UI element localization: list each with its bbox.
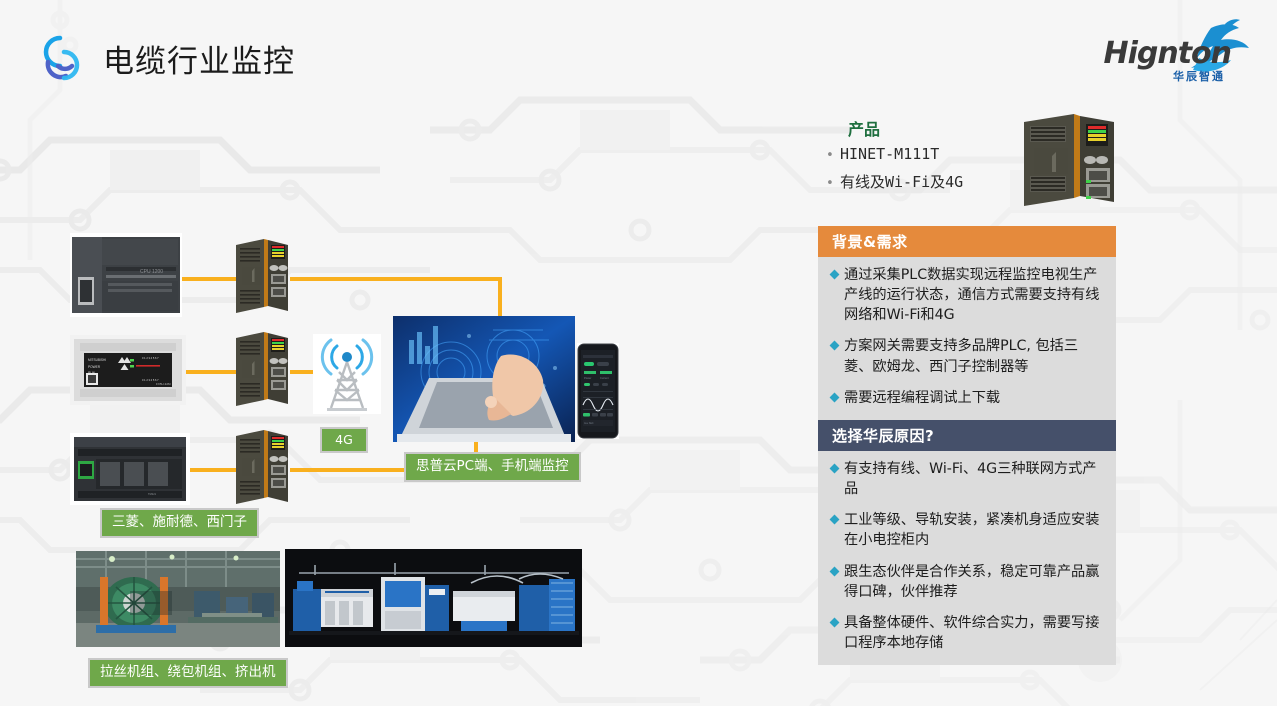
bullet-item: 跟生态伙伴是合作关系，稳定可靠产品赢得口碑，伙伴推荐 xyxy=(828,562,1104,602)
panel-body: 有支持有线、Wi-Fi、4G三种联网方式产品 工业等级、导轨安装，紧凑机身适应安… xyxy=(818,451,1116,665)
bullet-dot-icon: • xyxy=(826,148,840,163)
panel-title: 选择华辰原因? xyxy=(818,420,1116,451)
bullet-item: 有支持有线、Wi-Fi、4G三种联网方式产品 xyxy=(828,459,1104,499)
extrusion-production-line-photo xyxy=(285,549,582,647)
svg-text:0 1 2 3 4 5 6 7: 0 1 2 3 4 5 6 7 xyxy=(142,356,159,360)
bullet-dot-icon: • xyxy=(826,176,840,191)
bullet-text: 跟生态伙伴是合作关系，稳定可靠产品赢得口碑，伙伴推荐 xyxy=(844,562,1104,602)
siemens-plc-icon: CPU 1200 xyxy=(70,233,182,317)
brand-sub-name: 华辰智通 xyxy=(1173,68,1225,84)
bullet-text: 工业等级、导轨安装，紧凑机身适应安装在小电控柜内 xyxy=(844,510,1104,550)
panel-why-hignton: 选择华辰原因? 有支持有线、Wi-Fi、4G三种联网方式产品 工业等级、导轨安装… xyxy=(818,420,1116,665)
cable-loop-logo-icon xyxy=(36,32,88,84)
product-list-item: •HINET-M111T xyxy=(826,145,939,163)
page-title: 电缆行业监控 xyxy=(103,36,295,81)
diamond-bullet-icon xyxy=(828,336,844,349)
bullet-item: 具备整体硬件、软件综合实力，需要写接口程序本地存储 xyxy=(828,613,1104,653)
tag-machines: 拉丝机组、绕包机组、挤出机 xyxy=(88,658,288,688)
bullet-item: 需要远程编程调试上下载 xyxy=(828,388,1104,408)
mitsubishi-plc-icon: MITSUBISHI POWERRUN 0 1 2 3 4 5 6 70 1 2… xyxy=(70,335,186,405)
diamond-bullet-icon xyxy=(828,562,844,575)
bullet-item: 工业等级、导轨安装，紧凑机身适应安装在小电控柜内 xyxy=(828,510,1104,550)
architecture-diagram: CPU 1200 MITSUBISHI POWERRUN 0 1 2 3 4 5… xyxy=(0,120,820,706)
page-header: 电缆行业监控 Hignton 华辰智通 xyxy=(0,0,1277,110)
panel-title: 背景&需求 xyxy=(818,226,1116,257)
bullet-text: 方案网关需要支持多品牌PLC, 包括三菱、欧姆龙、西门子控制器等 xyxy=(844,336,1104,376)
brand-name: Hignton xyxy=(1103,36,1231,71)
diamond-bullet-icon xyxy=(828,613,844,626)
tag-plc-brands: 三菱、施耐德、西门子 xyxy=(100,508,259,538)
product-connectivity: 有线及Wi-Fi及4G xyxy=(840,173,963,191)
svg-text:Power: Power xyxy=(584,376,591,380)
panel-background-requirements: 背景&需求 通过采集PLC数据实现远程监控电视生产产线的运行状态，通信方式需要支… xyxy=(818,226,1116,451)
product-model: HINET-M111T xyxy=(840,145,939,163)
product-list-item: •有线及Wi-Fi及4G xyxy=(826,171,963,192)
bullet-text: 需要远程编程调试上下载 xyxy=(844,388,1104,408)
diamond-bullet-icon xyxy=(828,459,844,472)
cell-tower-4g-icon xyxy=(313,334,381,414)
bullet-text: 通过采集PLC数据实现远程监控电视生产产线的运行状态，通信方式需要支持有线网络和… xyxy=(844,265,1104,325)
schneider-plc-icon: TM221 xyxy=(70,433,190,505)
svg-text:FX5U-32M: FX5U-32M xyxy=(156,382,171,386)
bullet-item: 方案网关需要支持多品牌PLC, 包括三菱、欧姆龙、西门子控制器等 xyxy=(828,336,1104,376)
svg-text:Ave SEC: Ave SEC xyxy=(584,422,594,425)
bullet-text: 有支持有线、Wi-Fi、4G三种联网方式产品 xyxy=(844,459,1104,499)
bullet-text: 具备整体硬件、软件综合实力，需要写接口程序本地存储 xyxy=(844,613,1104,653)
hinet-gateway-icon xyxy=(232,235,292,317)
svg-text:POWER: POWER xyxy=(88,365,101,369)
hinet-gateway-icon xyxy=(232,426,292,508)
svg-text:Current: Current xyxy=(600,376,609,380)
svg-text:CPU 1200: CPU 1200 xyxy=(140,269,163,275)
product-heading: 产品 xyxy=(848,116,880,140)
mobile-monitoring-image: PowerCurrent Ave SEC xyxy=(577,343,619,439)
hinet-gateway-device-icon xyxy=(1016,110,1122,210)
product-block: 产品 •HINET-M111T •有线及Wi-Fi及4G xyxy=(826,112,1126,212)
tag-4g: 4G xyxy=(320,427,368,453)
cable-drum-factory-photo xyxy=(76,551,280,647)
hinet-gateway-icon xyxy=(232,328,292,410)
diamond-bullet-icon xyxy=(828,388,844,401)
diamond-bullet-icon xyxy=(828,265,844,278)
tag-cloud-monitor: 思普云PC端、手机端监控 xyxy=(404,452,581,482)
svg-text:MITSUBISHI: MITSUBISHI xyxy=(88,358,106,362)
wire-gateway1-cloud xyxy=(290,277,502,281)
svg-text:TM221: TM221 xyxy=(148,492,157,496)
diamond-bullet-icon xyxy=(828,510,844,523)
laptop-dashboard-image xyxy=(393,316,575,442)
wire-gateway2-tower xyxy=(290,370,314,374)
bullet-item: 通过采集PLC数据实现远程监控电视生产产线的运行状态，通信方式需要支持有线网络和… xyxy=(828,265,1104,325)
